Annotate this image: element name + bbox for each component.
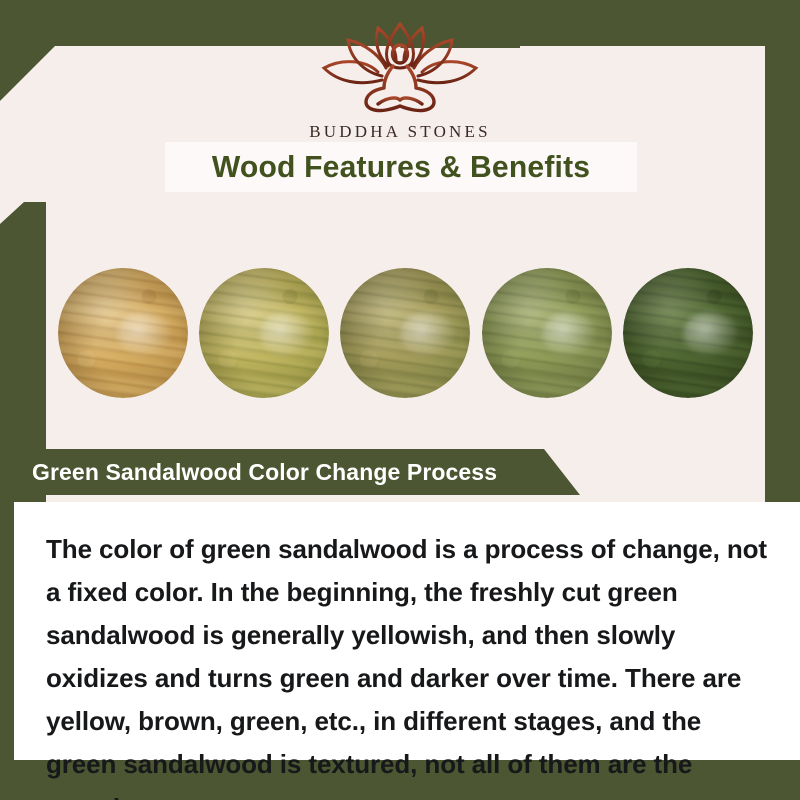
bead-color-stages <box>46 250 765 415</box>
bead-shading-3 <box>340 268 470 398</box>
bead-stage-5 <box>623 268 753 398</box>
section-banner-label: Green Sandalwood Color Change Process <box>32 459 497 486</box>
section-banner: Green Sandalwood Color Change Process <box>14 449 580 495</box>
bead-stage-1 <box>58 268 188 398</box>
bead-stage-4 <box>482 268 612 398</box>
brand-name: BUDDHA STONES <box>309 122 491 142</box>
page-title: Wood Features & Benefits <box>212 149 590 185</box>
bead-shading-4 <box>482 268 612 398</box>
brand-logo: BUDDHA STONES <box>0 20 800 142</box>
bead-shading-1 <box>58 268 188 398</box>
page-title-band: Wood Features & Benefits <box>165 142 637 192</box>
bead-shading-5 <box>623 268 753 398</box>
bead-stage-2 <box>199 268 329 398</box>
infographic-card: BUDDHA STONES Wood Features & Benefits <box>0 0 800 800</box>
bead-shading-2 <box>199 268 329 398</box>
bead-stage-3 <box>340 268 470 398</box>
section-body-panel: The color of green sandalwood is a proce… <box>14 502 800 760</box>
section-body-text: The color of green sandalwood is a proce… <box>14 502 800 800</box>
lotus-meditation-figure-icon <box>316 20 484 116</box>
